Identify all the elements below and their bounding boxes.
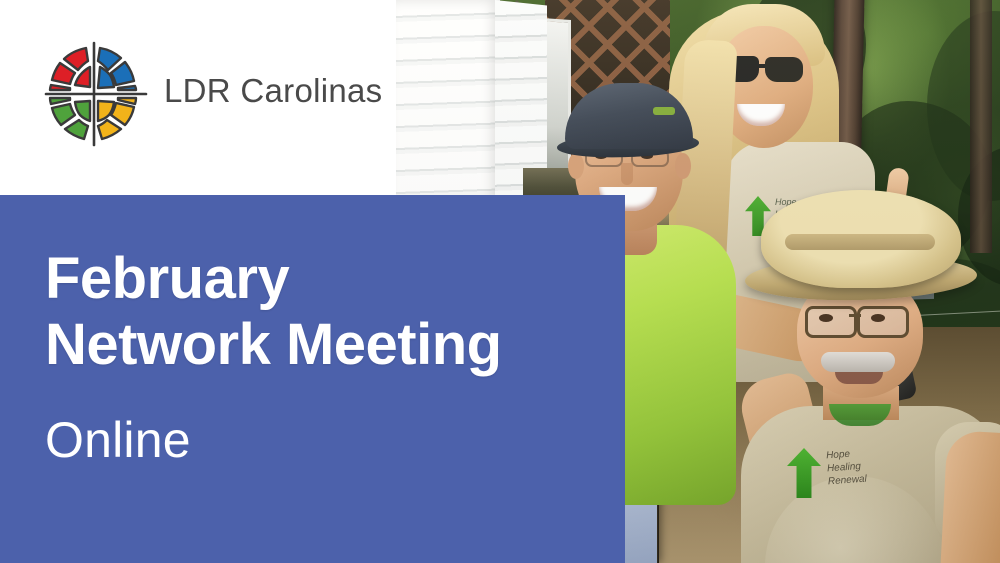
- mouth: [835, 372, 883, 384]
- nose: [621, 163, 633, 185]
- volunteer-man-straw-hat: Hope Healing Renewal: [725, 180, 1000, 563]
- ear: [675, 153, 691, 179]
- eyeglasses-bridge: [849, 314, 861, 317]
- cap-logo-icon: [653, 107, 675, 115]
- ldr-carolinas-globe-cross-logo: [42, 40, 150, 148]
- eye: [819, 314, 833, 322]
- eye: [871, 314, 885, 322]
- brand-header: LDR Carolinas: [0, 0, 396, 195]
- ear: [568, 153, 584, 179]
- mustache: [821, 352, 895, 372]
- eyeglasses-left-lens: [805, 306, 857, 338]
- eyeglasses-right-lens: [857, 306, 909, 338]
- navy-baseball-cap: [565, 83, 693, 149]
- shirt-logo-text: Hope Healing Renewal: [826, 447, 868, 489]
- event-location: Online: [45, 412, 191, 468]
- hat-band: [785, 234, 935, 250]
- event-banner: Hope Healing Renewal: [0, 0, 1000, 563]
- event-title: February Network Meeting: [45, 246, 502, 378]
- brand-name: LDR Carolinas: [164, 72, 382, 110]
